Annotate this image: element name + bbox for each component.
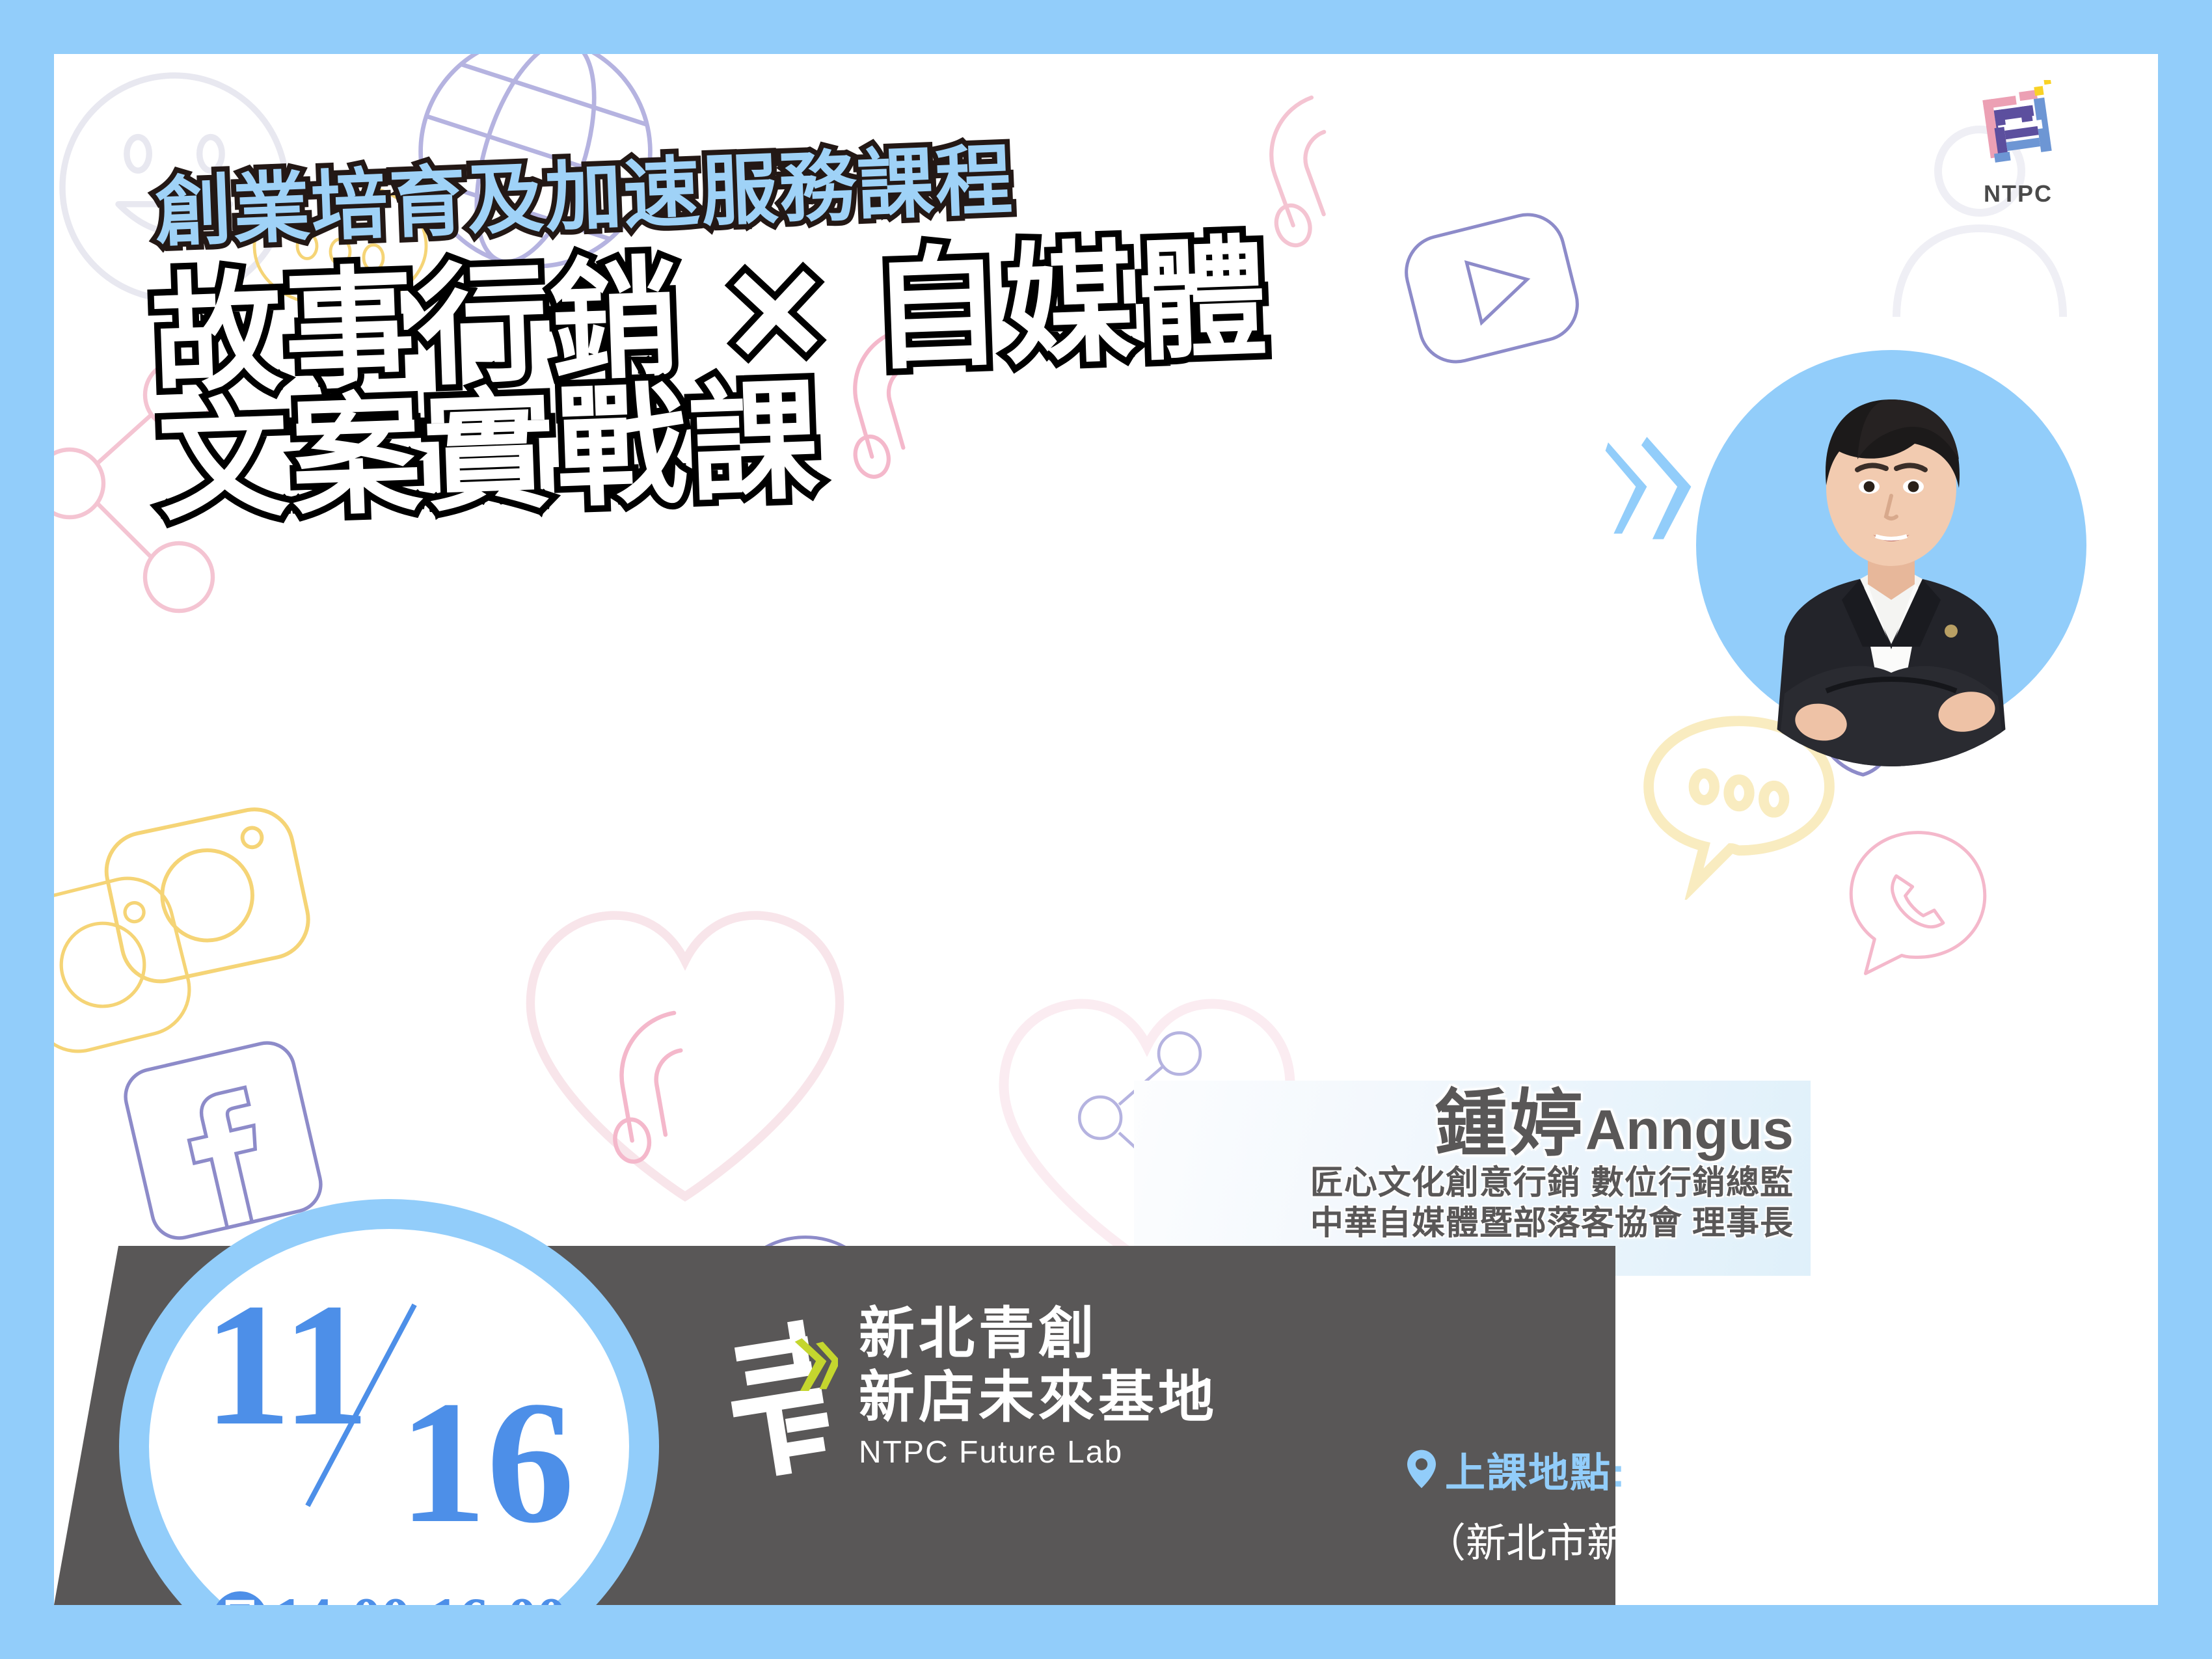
whatsapp-icon xyxy=(1837,822,1999,984)
main-title-line-2: 文案實戰課 xyxy=(155,334,825,545)
speaker-photo xyxy=(1696,350,2086,740)
weekday-badge: 日 xyxy=(213,1591,267,1605)
speaker-title-line-2: 中華自媒體暨部落客協會 理事長 xyxy=(1134,1203,1794,1243)
venue-block: 上課地點: （新北市新店區順德街128號2樓） xyxy=(1407,1440,2040,1569)
org-logo: 新北青創 新店未來基地 NTPC Future Lab xyxy=(731,1297,1218,1479)
poster-root: NTPC 創業培育及加速服務課程 故事行銷 ✕ 自媒體 文案實戰課 xyxy=(0,0,2212,1659)
speaker-name: 鍾婷Anngus xyxy=(1134,1086,1794,1163)
speaker-name-en: Anngus xyxy=(1585,1099,1794,1161)
ntpc-wordmark: NTPC xyxy=(1956,180,2080,208)
instagram-icon xyxy=(54,850,217,1079)
venue-label: 上課地點: xyxy=(1445,1440,1626,1498)
date-numbers: 11 16 xyxy=(119,1277,659,1531)
speaker-title-line-1: 匠心文化創意行銷 數位行銷總監 xyxy=(1134,1163,1794,1203)
wifi-icon xyxy=(587,977,783,1173)
chevron-arrows-icon xyxy=(1605,431,1703,542)
venue-header: 上課地點: xyxy=(1407,1440,2040,1498)
date-circle: 11 16 日 14:00-16:00 xyxy=(119,1199,659,1605)
speaker-name-cn: 鍾婷 xyxy=(1435,1083,1585,1165)
speaker-portrait-illustration xyxy=(1696,324,2086,766)
youtube-icon xyxy=(1385,194,1598,383)
heart-icon xyxy=(509,893,861,1219)
org-line-1: 新北青創 xyxy=(859,1302,1218,1366)
time-range: 14:00-16:00 xyxy=(274,1584,566,1605)
org-text: 新北青創 新店未來基地 NTPC Future Lab xyxy=(859,1297,1218,1470)
org-line-2: 新店未來基地 xyxy=(859,1366,1218,1429)
map-pin-icon xyxy=(1407,1450,1436,1489)
venue-address: （新北市新店區順德街128號2樓） xyxy=(1425,1510,2040,1569)
ntpc-emblem-icon xyxy=(1969,80,2067,178)
date-month: 11 xyxy=(204,1277,370,1453)
camera-icon xyxy=(80,769,333,1018)
date-day: 16 xyxy=(399,1375,574,1550)
poster-canvas: NTPC 創業培育及加速服務課程 故事行銷 ✕ 自媒體 文案實戰課 xyxy=(54,54,2158,1605)
org-line-3: NTPC Future Lab xyxy=(859,1435,1218,1470)
org-emblem-icon xyxy=(731,1303,838,1479)
date-time-row: 日 14:00-16:00 xyxy=(119,1584,659,1605)
ntpc-logo: NTPC xyxy=(1956,80,2080,208)
